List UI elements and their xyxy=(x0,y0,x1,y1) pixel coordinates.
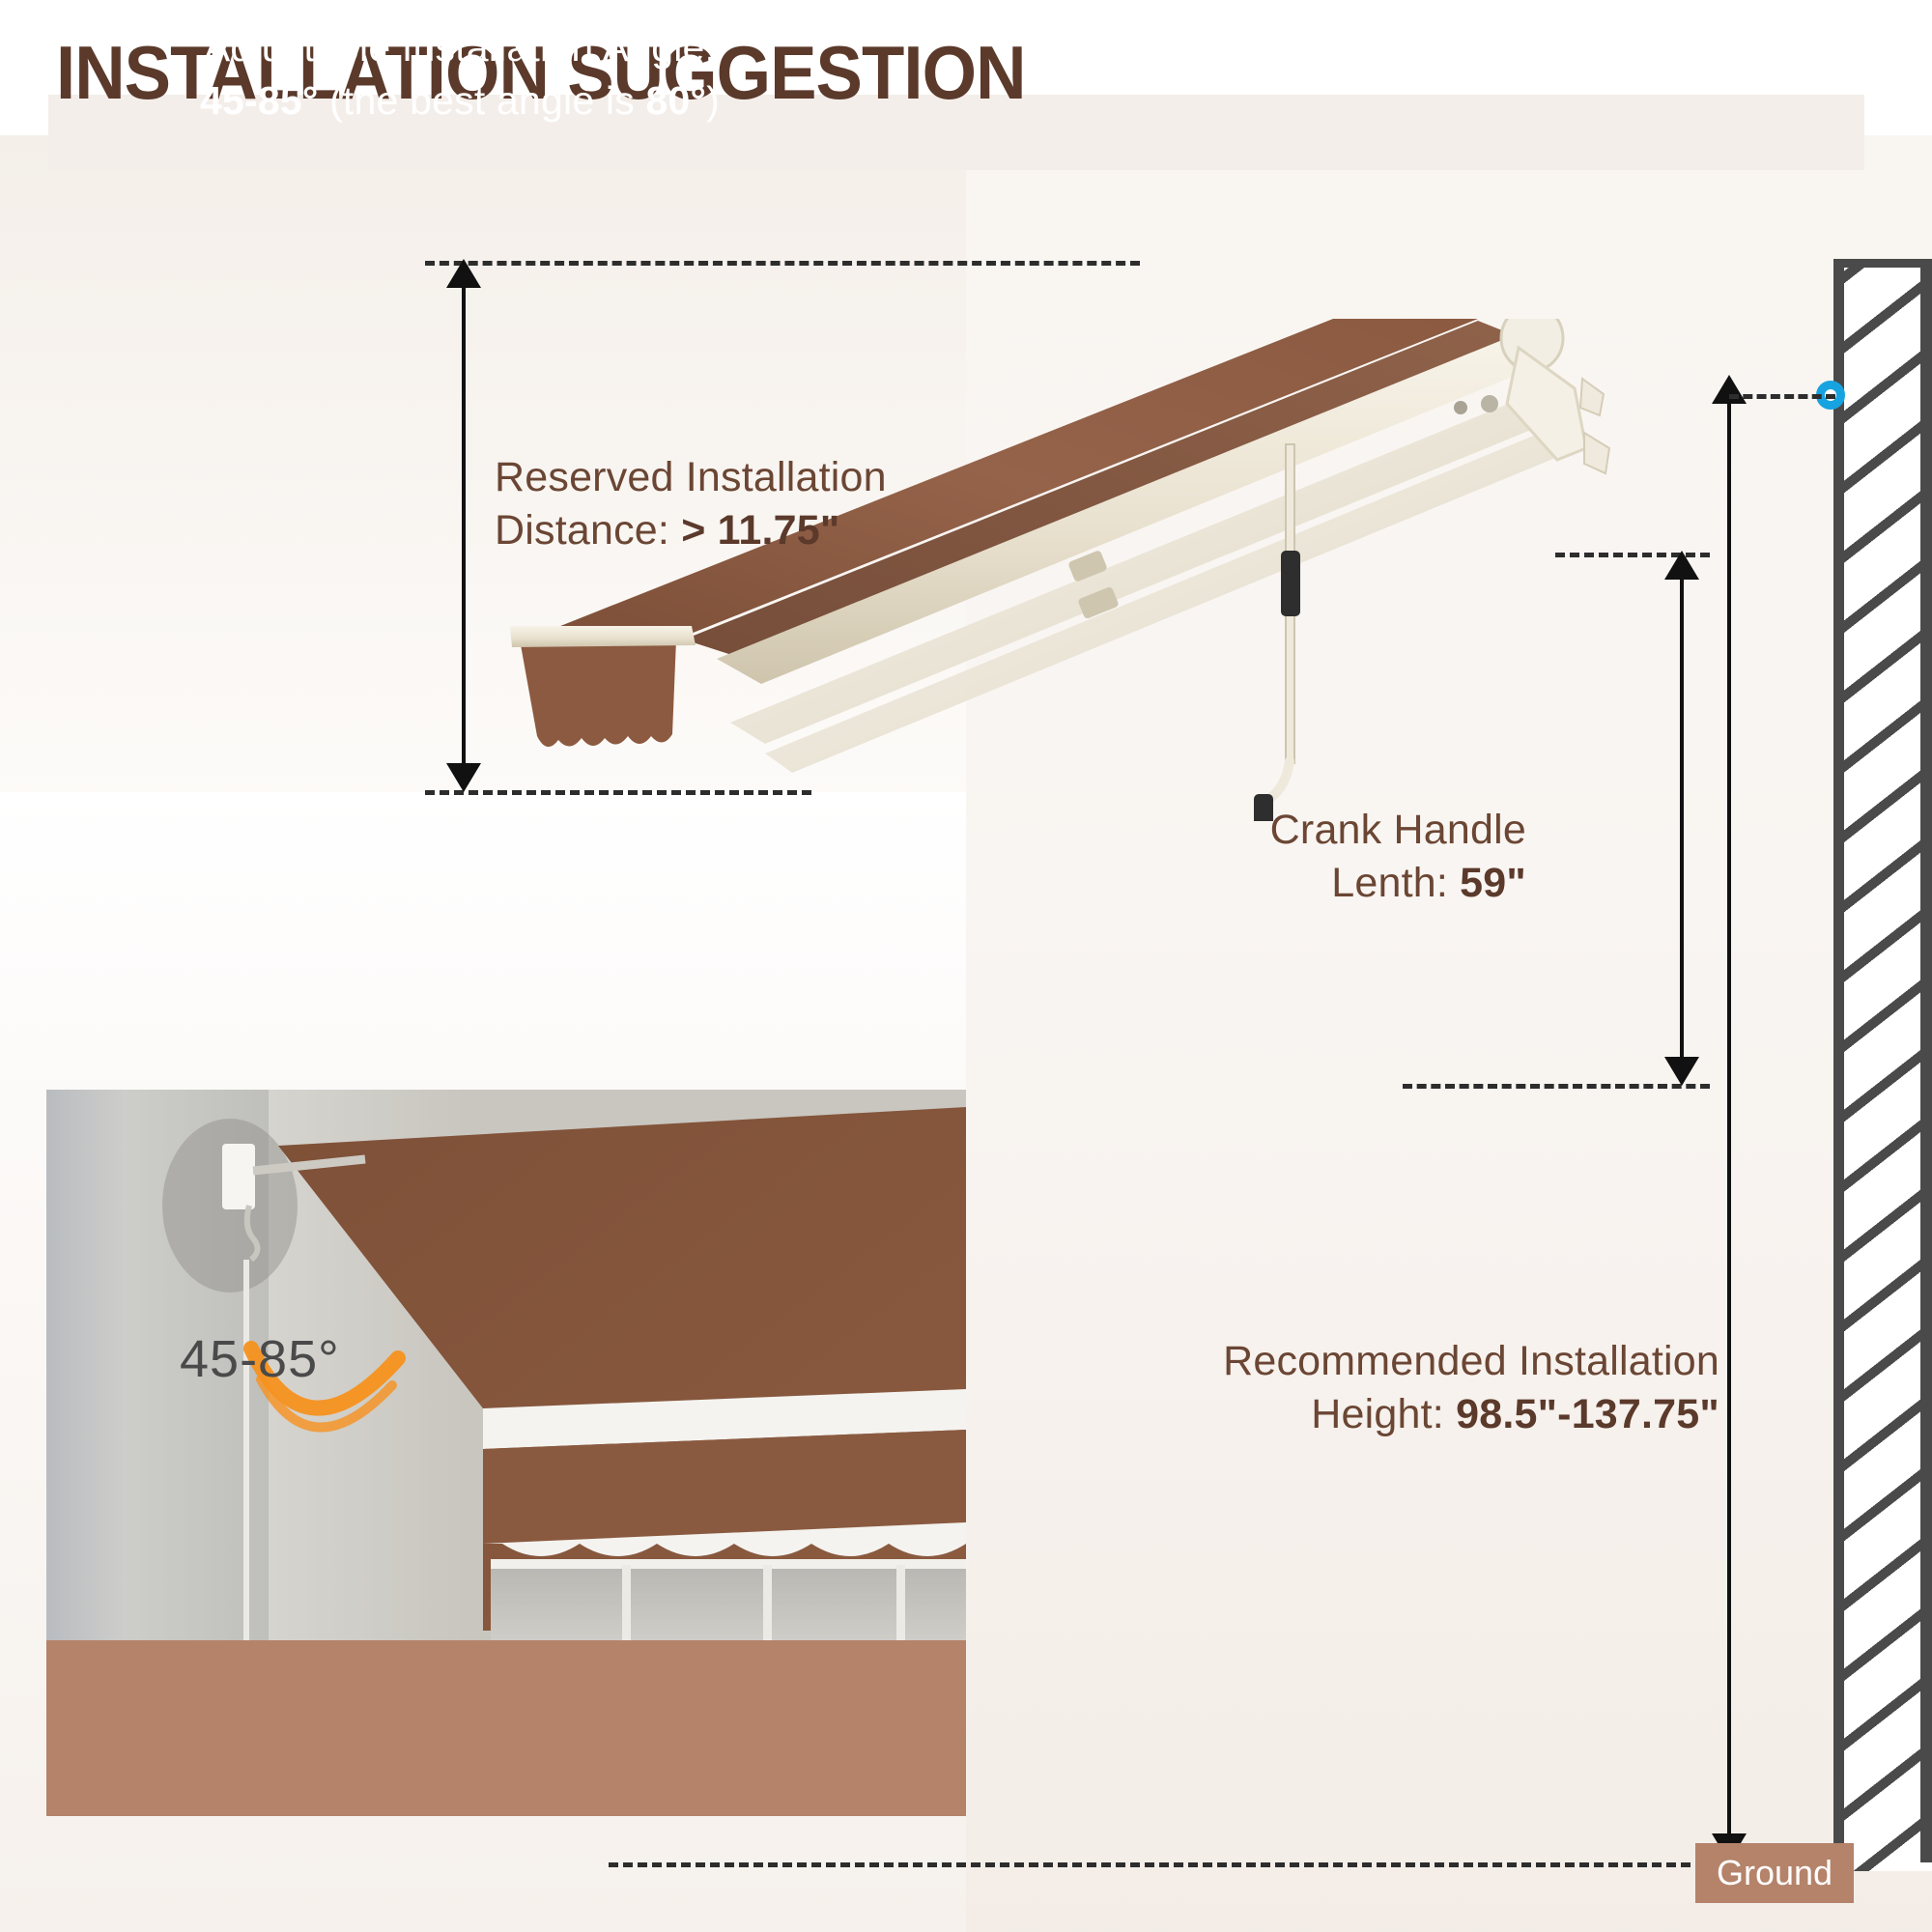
awning-illustration xyxy=(502,319,1748,821)
installation-suggestion-infographic: INSTALLATION SUGGESTION xyxy=(0,0,1932,1932)
height-arrow-top-icon xyxy=(1712,375,1747,404)
crank-handle-value: 59" xyxy=(1460,860,1526,906)
photo-window-head xyxy=(491,1559,966,1569)
photo-wall-bracket xyxy=(222,1144,255,1209)
crank-handle-line1: Crank Handle xyxy=(1270,807,1526,853)
reserved-distance-label: Distance: xyxy=(495,507,681,554)
height-top-guide xyxy=(1729,394,1835,399)
bracket-bolt-2 xyxy=(1454,401,1467,414)
awning-valance xyxy=(520,639,676,747)
bracket-hook-upper xyxy=(1580,379,1604,415)
reserved-arrow-top-icon xyxy=(446,259,481,288)
wall-right-edge xyxy=(1920,259,1932,1862)
crank-dimension-line xyxy=(1680,570,1684,1070)
reserved-distance-value: > 11.75" xyxy=(681,507,839,554)
wall-section xyxy=(1833,259,1932,1871)
awning-svg xyxy=(502,319,1748,821)
caption-line1: Adjustable Installation Angle: xyxy=(204,25,716,70)
crank-arrow-top-icon xyxy=(1664,551,1699,580)
recommended-height-line1: Recommended Installation xyxy=(1223,1338,1719,1384)
bracket-bolt-1 xyxy=(1481,395,1498,412)
photo-drop-cord xyxy=(243,1260,249,1640)
caption-line2-end: ) xyxy=(706,78,720,123)
photo-window-mullion-2 xyxy=(763,1565,772,1640)
reserved-arrow-bottom-icon xyxy=(446,763,481,792)
caption-line2-mid: (the best angle is xyxy=(318,78,645,123)
height-dimension-line xyxy=(1727,394,1731,1855)
recommended-height-note: Recommended Installation Height: 98.5"-1… xyxy=(1024,1335,1719,1441)
reserved-distance-note: Reserved Installation Distance: > 11.75" xyxy=(495,451,887,557)
crank-handle-note: Crank Handle Lenth: 59" xyxy=(1092,804,1526,910)
reserved-dimension-line xyxy=(462,276,466,777)
photo-window-glass xyxy=(491,1565,966,1640)
crank-handle-label: Lenth: xyxy=(1331,860,1460,906)
caption-box xyxy=(46,1640,966,1816)
caption-text: Adjustable Installation Angle: 45-85° (t… xyxy=(0,21,920,128)
angle-overlay-label: 45-85° xyxy=(180,1329,340,1389)
reserved-bottom-guide xyxy=(425,790,811,795)
wall-hatch-pattern xyxy=(1844,268,1932,1871)
photo-window-mullion-1 xyxy=(622,1565,631,1640)
bracket-hook-lower xyxy=(1584,433,1609,473)
photo-window-mullion-3 xyxy=(896,1565,905,1640)
caption-best-angle: 80° xyxy=(646,78,707,123)
valance-cap-bar xyxy=(510,626,696,647)
caption-angle-range: 45-85° xyxy=(200,78,318,123)
ground-baseline-guide xyxy=(609,1862,1835,1867)
reserved-distance-line1: Reserved Installation xyxy=(495,454,887,500)
recommended-height-label: Height: xyxy=(1311,1391,1456,1437)
ground-label: Ground xyxy=(1695,1843,1854,1903)
crank-arrow-bottom-icon xyxy=(1664,1057,1699,1086)
reserved-top-guide xyxy=(425,261,1140,266)
crank-grip-upper xyxy=(1281,551,1300,616)
recommended-height-value: 98.5"-137.75" xyxy=(1456,1391,1719,1437)
